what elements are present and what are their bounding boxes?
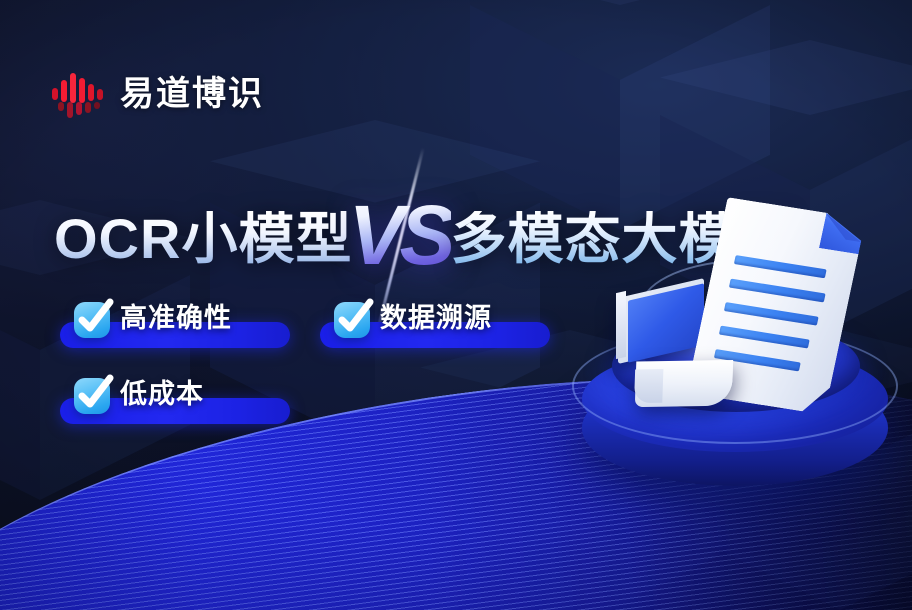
check-badge-icon [74,302,110,338]
card-panel-edge [616,291,626,359]
feature-badge-row: 高准确性 数据溯源 [60,300,620,364]
brand-name: 易道博识 [120,77,264,111]
headline-left-title: OCR小模型 [54,211,352,267]
feature-label: 低成本 [120,374,204,414]
feature-badge-list: 高准确性 数据溯源 低成本 [60,300,620,440]
vs-label: VS [348,193,450,277]
poster-canvas: 易道博识 OCR小模型 VS 多模态大模型 高准确性 [0,0,912,610]
check-badge-icon [74,378,110,414]
vs-badge: VS [350,189,442,289]
document-curl-shadow [634,369,663,403]
feature-label: 高准确性 [120,298,232,338]
3d-document-illustration [556,200,912,530]
waveform-bars-logo-icon [52,68,104,120]
brand-logo: 易道博识 [52,68,264,120]
feature-label: 数据溯源 [380,298,492,338]
feature-badge-row: 低成本 [60,376,620,440]
check-badge-icon [334,302,370,338]
